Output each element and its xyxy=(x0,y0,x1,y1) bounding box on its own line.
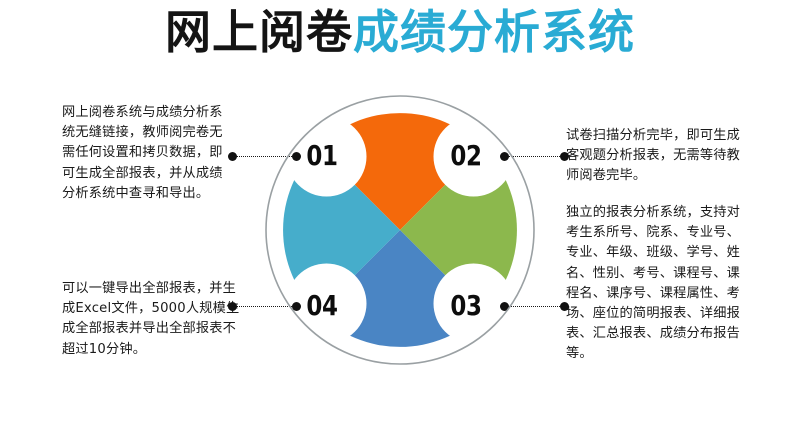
callout-text-01: 网上阅卷系统与成绩分析系统无缝链接，教师阅完卷无需任何设置和拷贝数据，即可生成全… xyxy=(62,103,234,204)
connector-dot-outer-02 xyxy=(560,152,569,161)
connector-dot-outer-03 xyxy=(560,302,569,311)
pinwheel-svg xyxy=(264,94,536,366)
segment-number-03: 03 xyxy=(445,289,488,322)
connector-dot-outer-01 xyxy=(228,152,237,161)
callout-text-03: 独立的报表分析系统，支持对考生系所号、院系、专业号、专业、年级、班级、学号、姓名… xyxy=(566,203,752,365)
callout-text-02: 试卷扫描分析完毕，即可生成客观题分析报表，无需等待教师阅卷完毕。 xyxy=(566,126,748,187)
page-title: 网上阅卷成绩分析系统 xyxy=(0,4,800,60)
segment-number-01: 01 xyxy=(301,139,344,172)
title-dark-part: 网上阅卷 xyxy=(165,5,353,59)
connector-dot-outer-04 xyxy=(228,302,237,311)
infographic-page: 网上阅卷成绩分析系统 网上阅卷系统与成绩分析系统无缝链接，教师阅完卷无需任何设置… xyxy=(0,0,800,443)
title-accent-part: 成绩分析系统 xyxy=(353,5,635,59)
segment-number-04: 04 xyxy=(301,289,344,322)
segment-number-02: 02 xyxy=(445,139,488,172)
callout-text-04: 可以一键导出全部报表，并生成Excel文件，5000人规模生成全部报表并导出全部… xyxy=(62,279,240,360)
pinwheel-diagram xyxy=(264,94,536,366)
